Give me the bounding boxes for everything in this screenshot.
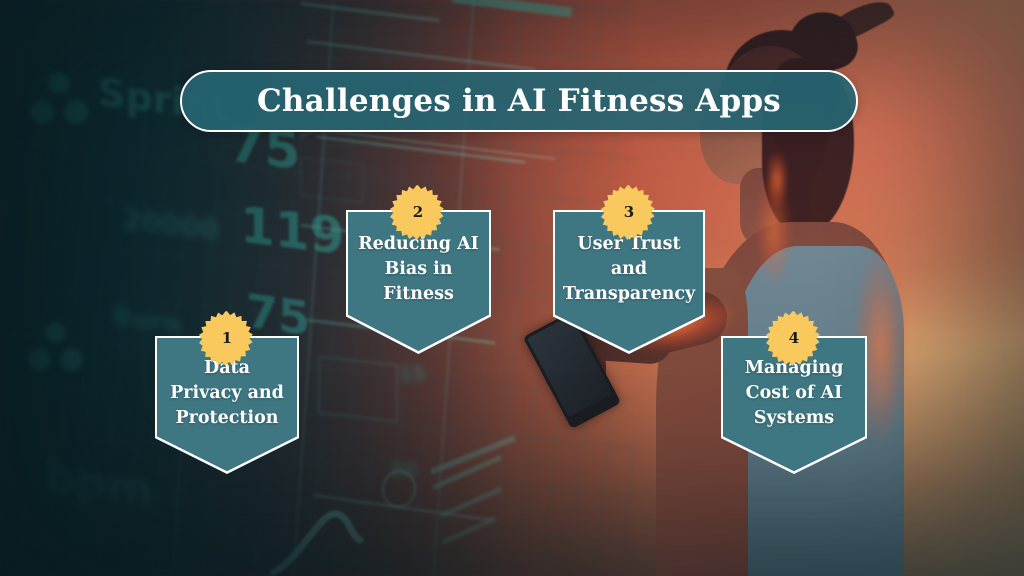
card-1-number: 1 (222, 331, 232, 346)
card-4-line-3: Systems (711, 406, 877, 431)
card-4-number: 4 (789, 331, 799, 346)
slide-title-pill: Challenges in AI Fitness Apps (180, 70, 858, 132)
page-title: Challenges in AI Fitness Apps (257, 86, 781, 117)
card-2-line-2: Bias in (336, 257, 501, 282)
card-4-line-2: Cost of AI (711, 381, 877, 406)
card-1-line-2: Privacy and (145, 381, 309, 406)
card-2-label: Reducing AI Bias in Fitness (334, 232, 503, 307)
card-2-number: 2 (413, 205, 423, 220)
card-2-number-badge: 2 (390, 184, 446, 240)
card-3-number-badge: 3 (601, 184, 657, 240)
card-4-number-badge: 4 (766, 310, 822, 366)
slide-canvas: Sprint 75 119 20000 75 Burn bpm 15 80 (0, 0, 1024, 576)
card-2-line-3: Fitness (336, 282, 501, 307)
card-3-line-3: Transparency (543, 282, 715, 307)
card-3-label: User Trust and Transparency (541, 232, 717, 307)
card-1-number-badge: 1 (199, 310, 255, 366)
card-3-line-2: and (543, 257, 715, 282)
card-1-label: Data Privacy and Protection (143, 356, 311, 431)
card-4-label: Managing Cost of AI Systems (709, 356, 879, 431)
card-1-line-3: Protection (145, 406, 309, 431)
card-3-number: 3 (624, 205, 634, 220)
